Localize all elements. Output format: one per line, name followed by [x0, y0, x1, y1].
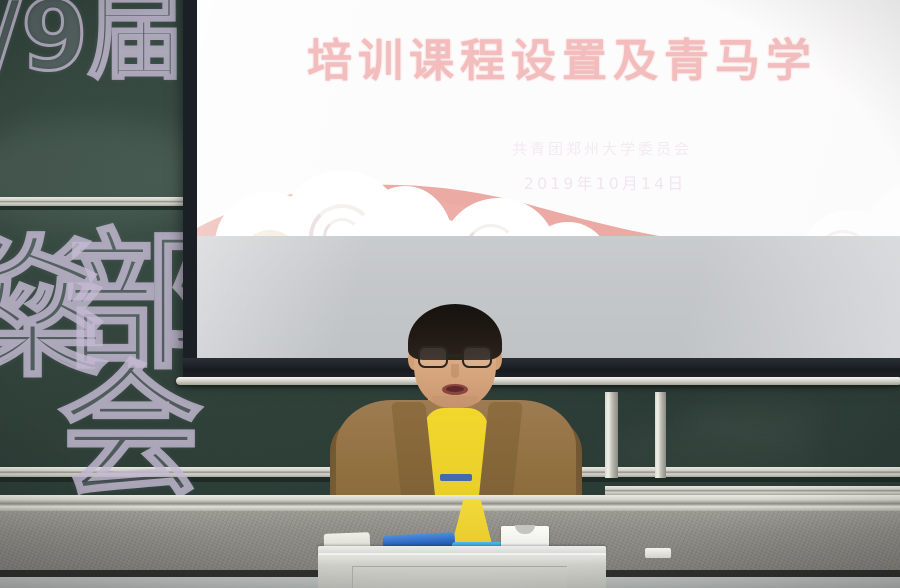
glasses-lens-right: [462, 346, 492, 368]
board-frame-vertical-a: [605, 392, 618, 478]
eyebrow-left: [420, 340, 444, 344]
podium-front-panel: [352, 566, 567, 588]
board-rail-upper-left: [0, 197, 186, 206]
mouth-inner: [446, 386, 464, 392]
small-clip: [645, 548, 671, 558]
chalk-tray-rail: [0, 495, 900, 511]
chalk-smudge: [680, 400, 830, 440]
chalk-mark-lower-left: 燊: [0, 236, 108, 386]
glasses-lens-left: [418, 346, 448, 368]
photo-scene: /9届 部 会 燊: [0, 0, 900, 588]
glasses-bridge: [448, 354, 462, 357]
slide-title: 培训课程设置及青马学: [112, 24, 900, 89]
shirt-graphic: [440, 474, 472, 481]
slide-organization: 共青团郑州大学委员会: [152, 138, 900, 159]
eyebrow-right: [464, 340, 488, 344]
chin: [432, 396, 478, 408]
nose: [451, 364, 459, 378]
board-frame-vertical-b: [655, 392, 666, 478]
slide-date: 2019年10月14日: [155, 170, 900, 194]
board-rail-shadow: [0, 206, 186, 210]
board-frame-horizontal: [605, 486, 900, 495]
